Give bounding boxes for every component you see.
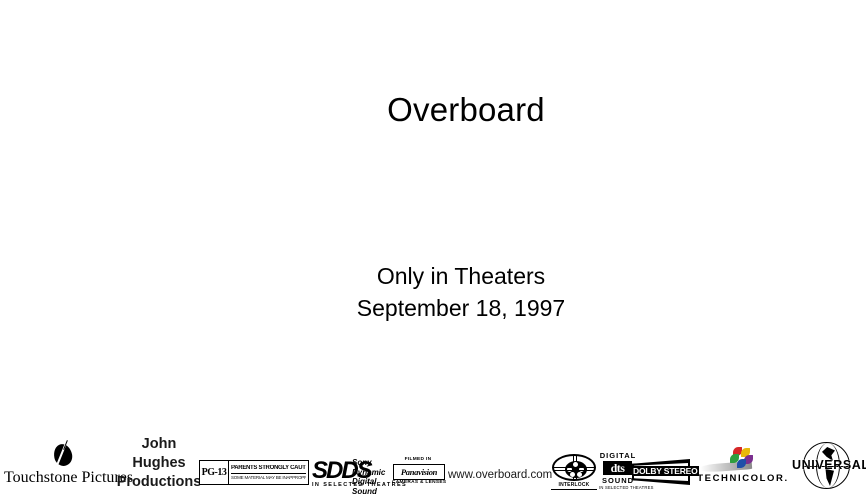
john-hughes-line-1: John Hughes: [116, 435, 202, 473]
globe-film-reel-icon: [552, 454, 596, 481]
comet-icon: [52, 440, 74, 467]
logo-john-hughes-productions: John Hughes Productions: [116, 435, 202, 492]
logo-sdds: SDDS Sony Dynamic Digital Sound IN SELEC…: [312, 457, 396, 491]
dolby-word: DOLBYSTEREO: [632, 466, 690, 477]
website-url[interactable]: www.overboard.com: [448, 468, 552, 482]
logo-panavision: FILMED IN Panavision CAMERAS & LENSES: [392, 457, 444, 489]
universal-label: UNIVERSAL: [792, 458, 862, 472]
john-hughes-line-2: Productions: [116, 473, 202, 492]
dts-sub-text: IN SELECTED THEATRES: [599, 485, 637, 490]
universal-label-text: UNIVERSAL: [792, 458, 866, 472]
rating-code: PG-13: [200, 461, 229, 484]
credits-strip: Touchstone Pictures John Hughes Producti…: [0, 435, 866, 495]
panavision-box: Panavision: [393, 464, 445, 480]
logo-globe-film-reel: INTERLOCK: [551, 453, 597, 491]
rating-sub-text: SOME MATERIAL MAY BE INAPPROPRIATE FOR C…: [231, 473, 306, 481]
panavision-bottom-text: CAMERAS & LENSES: [392, 480, 444, 486]
mpaa-rating-box: PG-13 PARENTS STRONGLY CAUTIONED SOME MA…: [199, 460, 309, 485]
rating-texts: PARENTS STRONGLY CAUTIONED SOME MATERIAL…: [229, 461, 308, 484]
page-title: Overboard: [33, 88, 866, 132]
rating-main-text: PARENTS STRONGLY CAUTIONED: [231, 465, 306, 472]
touchstone-label: Touchstone Pictures: [4, 468, 130, 487]
logo-dolby-stereo: DOLBYSTEREO: [632, 459, 690, 485]
logo-universal: UNIVERSAL: [792, 441, 862, 491]
panavision-word: Panavision: [401, 467, 437, 477]
subtitle-line-1: Only in Theaters: [28, 260, 866, 292]
logo-touchstone-pictures: Touchstone Pictures: [4, 440, 130, 492]
pinwheel-icon: [728, 447, 754, 471]
technicolor-label: TECHNICOLOR.: [694, 473, 792, 485]
slide-subtitle: Only in Theaters September 18, 1997: [28, 260, 866, 324]
subtitle-line-2: September 18, 1997: [28, 292, 866, 324]
logo-technicolor: TECHNICOLOR.: [694, 447, 792, 489]
dts-word: dts: [611, 462, 625, 474]
dolby-word-main: DOLBY: [632, 466, 663, 476]
sdds-theatres-text: IN SELECTED THEATRES: [312, 482, 396, 489]
dts-box: dts: [603, 461, 632, 475]
globe-reel-label: INTERLOCK: [551, 482, 597, 490]
panavision-top-text: FILMED IN: [392, 457, 444, 463]
